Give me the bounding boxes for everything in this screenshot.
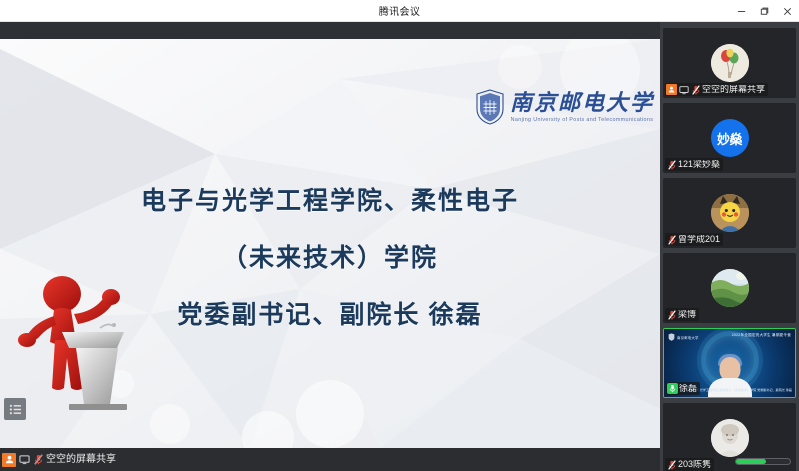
user-icon <box>666 84 677 95</box>
tencent-meeting-window: 腾讯会议 <box>0 0 799 471</box>
panel-scroll-indicator[interactable] <box>735 458 791 465</box>
participant-name: 徐磊 <box>679 384 697 393</box>
user-icon <box>2 453 16 467</box>
screen-share-owner-chip: 空空的屏幕共享 <box>2 452 116 467</box>
mic-muted-icon <box>666 459 677 470</box>
window-title: 腾讯会议 <box>379 3 421 18</box>
participant-tile-active-speaker[interactable]: 南京邮电大学 2022年全国宏亮大学生 暑期夏令营 电子与光学工程学院 柔性电子… <box>663 328 796 398</box>
video-overlay-logo-text: 南京邮电大学 <box>677 335 699 340</box>
mic-active-icon <box>667 383 678 394</box>
slide-line-1: 电子与光学工程学院、柔性电子 <box>0 189 660 214</box>
university-logo: 南京邮电大学 Nanjing University of Posts and T… <box>475 89 654 125</box>
window-controls <box>730 0 799 22</box>
participant-tag: 曾学成201 <box>665 233 723 246</box>
participant-panel[interactable]: 空空的屏幕共享 妙燊 121 <box>660 22 799 471</box>
participant-name: 203陈隽 <box>678 460 711 469</box>
shared-screen-stage[interactable]: 南京邮电大学 Nanjing University of Posts and T… <box>0 22 660 471</box>
university-name-cn: 南京邮电大学 <box>510 92 654 114</box>
video-caption-text: 电子与光学工程学院 柔性电子（未来技术）学院 党委副书记、副院长 徐磊 <box>690 388 792 393</box>
participant-tag: 121梁妙燊 <box>665 158 723 171</box>
panel-scroll-thumb[interactable] <box>736 459 766 464</box>
participant-tile[interactable]: 曾学成201 <box>663 178 796 248</box>
stage-bottom-bar: 空空的屏幕共享 <box>0 448 660 471</box>
close-icon <box>782 6 793 17</box>
avatar <box>711 44 749 82</box>
participant-tile-list: 空空的屏幕共享 妙燊 121 <box>663 28 796 471</box>
minimize-icon <box>736 6 747 17</box>
participant-tile[interactable]: 梁博 <box>663 253 796 323</box>
participant-tag: 梁博 <box>665 308 699 321</box>
mic-muted-icon <box>690 84 701 95</box>
stage-top-letterbox <box>0 22 660 39</box>
pikachu-avatar-icon <box>711 194 749 232</box>
landscape-avatar-icon <box>711 269 749 307</box>
balloons-avatar-icon <box>711 44 749 82</box>
avatar: 妙燊 <box>711 119 749 157</box>
mic-muted-icon <box>33 454 44 466</box>
slide-line-2: （未来技术）学院 <box>0 246 660 271</box>
maximize-button[interactable] <box>753 0 776 22</box>
university-crest-icon <box>668 333 675 341</box>
list-icon <box>9 404 22 415</box>
video-overlay-logo: 南京邮电大学 <box>668 333 699 341</box>
monitor-icon <box>18 453 31 466</box>
mic-muted-icon <box>666 309 677 320</box>
presentation-slide: 南京邮电大学 Nanjing University of Posts and T… <box>0 39 660 448</box>
title-bar: 腾讯会议 <box>0 0 799 22</box>
participant-tile[interactable]: 妙燊 121梁妙燊 <box>663 103 796 173</box>
participant-name: 121梁妙燊 <box>678 160 720 169</box>
screen-share-owner-label: 空空的屏幕共享 <box>46 455 116 465</box>
university-name-en: Nanjing University of Posts and Telecomm… <box>511 117 654 123</box>
participant-tile[interactable]: 空空的屏幕共享 <box>663 28 796 98</box>
video-banner-text: 2022年全国宏亮大学生 暑期夏令营 <box>732 333 791 338</box>
participant-name: 曾学成201 <box>678 235 720 244</box>
monitor-icon <box>678 84 689 95</box>
participant-tag: 203陈隽 <box>665 458 714 471</box>
minimize-button[interactable] <box>730 0 753 22</box>
avatar <box>711 194 749 232</box>
participant-tag: 徐磊 <box>666 382 700 395</box>
participant-name: 空空的屏幕共享 <box>702 85 765 94</box>
slide-outline-button[interactable] <box>4 398 26 420</box>
participant-name: 梁博 <box>678 310 696 319</box>
close-button[interactable] <box>776 0 799 22</box>
mic-muted-icon <box>666 234 677 245</box>
mic-muted-icon <box>666 159 677 170</box>
portrait-avatar-icon <box>711 419 749 457</box>
university-crest-icon <box>475 89 505 125</box>
avatar <box>711 419 749 457</box>
presenter-podium-illustration <box>14 270 134 430</box>
university-wordmark: 南京邮电大学 Nanjing University of Posts and T… <box>510 92 654 123</box>
avatar <box>711 269 749 307</box>
avatar-initials: 妙燊 <box>717 129 742 148</box>
restore-icon <box>759 6 770 17</box>
participant-tag: 空空的屏幕共享 <box>665 83 768 96</box>
